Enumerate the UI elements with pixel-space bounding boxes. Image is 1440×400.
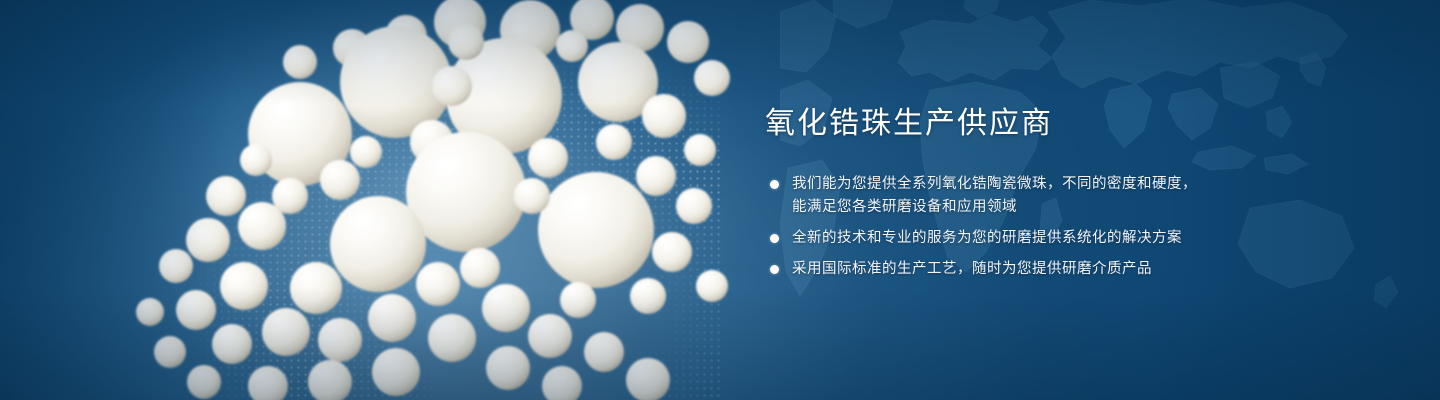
- hero-banner: 氧化锆珠生产供应商 我们能为您提供全系列氧化锆陶瓷微珠，不同的密度和硬度， 能满…: [0, 0, 1440, 400]
- vignette-overlay: [0, 0, 1440, 400]
